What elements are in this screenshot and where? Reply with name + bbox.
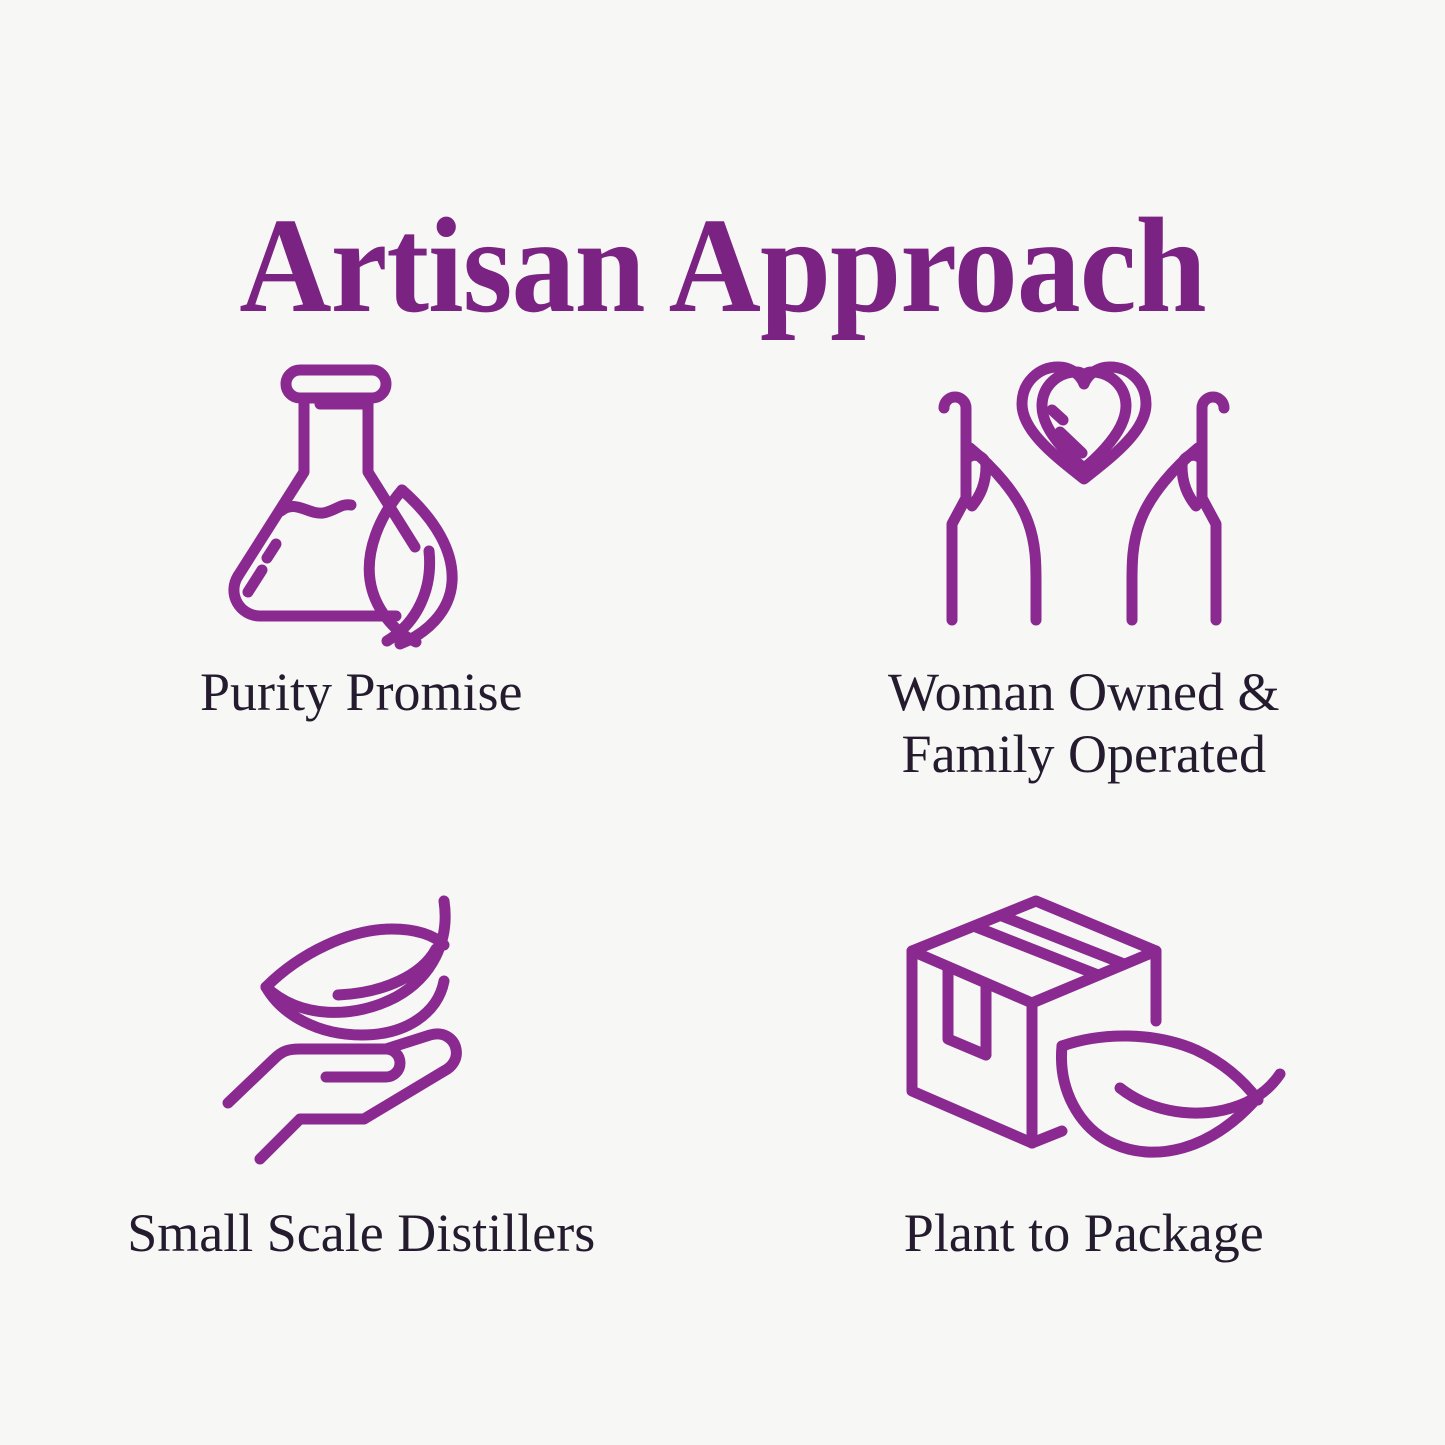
- box-leaf-icon: [884, 873, 1284, 1173]
- hands-holding-heart-icon: [924, 348, 1244, 648]
- feature-label: Plant to Package: [904, 1203, 1264, 1265]
- artisan-approach-infographic: Artisan Approach: [0, 0, 1445, 1445]
- feature-label: Purity Promise: [200, 662, 523, 724]
- page-title: Artisan Approach: [43, 195, 1401, 338]
- feature-label: Small Scale Distillers: [127, 1203, 595, 1265]
- feature-grid: Purity Promise: [0, 330, 1445, 1380]
- feature-label: Woman Owned & Family Operated: [888, 662, 1280, 785]
- feature-item-woman-owned: Woman Owned & Family Operated: [723, 330, 1445, 855]
- flask-leaf-icon: [216, 348, 506, 648]
- feature-item-small-scale-distillers: Small Scale Distillers: [0, 855, 723, 1380]
- feature-item-purity-promise: Purity Promise: [0, 330, 723, 855]
- feature-item-plant-to-package: Plant to Package: [723, 855, 1445, 1380]
- leaf-in-hand-icon: [216, 873, 506, 1173]
